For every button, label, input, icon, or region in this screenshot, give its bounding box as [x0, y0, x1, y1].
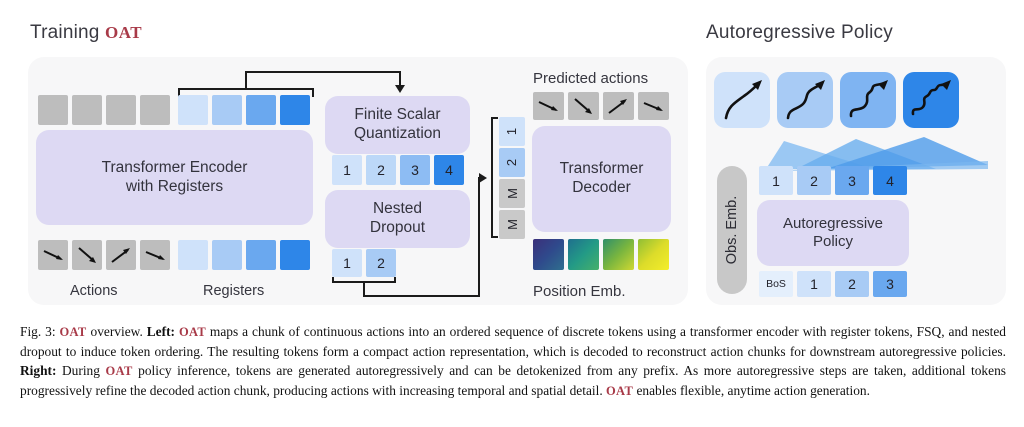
caption-brand-1: OAT [60, 325, 87, 339]
caption-seg-4: During [56, 363, 105, 378]
register-tile-top [280, 95, 310, 125]
nested-dropout-block: Nested Dropout [325, 190, 470, 248]
dropout-token: 1 [332, 249, 362, 277]
register-tile-bottom [212, 240, 242, 270]
caption-prefix: Fig. 3: [20, 324, 60, 339]
trajectory-curve-2-icon [777, 72, 833, 128]
policy-input-token: 3 [873, 271, 907, 297]
predicted-action-tile [603, 92, 634, 120]
decoder-input-token-label: 1 [504, 128, 519, 135]
fsq-token: 4 [434, 155, 464, 185]
action-arrow-right-down-icon [38, 240, 68, 270]
policy-label-line2: Policy [813, 233, 853, 251]
register-bracket-right [312, 88, 314, 97]
register-tile-bottom [280, 240, 310, 270]
transformer-encoder-block: Transformer Encoder with Registers [36, 130, 313, 225]
registers-label: Registers [203, 283, 264, 299]
caption-bold-right: Right: [20, 363, 56, 378]
fsq-label-line2: Quantization [354, 125, 441, 144]
fsq-token: 3 [400, 155, 430, 185]
encoder-label-line2: with Registers [126, 178, 223, 197]
predicted-arrow-down-right-icon [568, 92, 599, 120]
action-arrow-up-right-icon [106, 240, 136, 270]
policy-output-token: 4 [873, 166, 907, 195]
position-emb-tile [533, 239, 564, 270]
action-arrow-right-icon [140, 240, 170, 270]
decoder-input-token-label: 2 [504, 159, 519, 166]
policy-input-token: 1 [797, 271, 831, 297]
action-tile [72, 240, 102, 270]
predicted-arrow-right-down-icon [533, 92, 564, 120]
figure-area: Training OAT Transformer Encoder with Re… [0, 0, 1024, 315]
obs-emb-block: Obs. Emb. [717, 166, 747, 294]
fsq-feed-line [245, 71, 400, 73]
policy-input-token: 2 [835, 271, 869, 297]
caption-bold-left: Left: [147, 324, 175, 339]
dropout-route-across [363, 295, 480, 297]
register-tile-top [178, 95, 208, 125]
decoder-input-token-label: M [505, 219, 520, 230]
dropout-route-up [478, 177, 480, 297]
position-emb-tile [638, 239, 669, 270]
figure-caption: Fig. 3: OAT overview. Left: OAT maps a c… [20, 322, 1006, 400]
predicted-actions-label: Predicted actions [533, 70, 648, 87]
policy-input-token: BoS [759, 271, 793, 297]
dropout-label-line2: Dropout [370, 219, 425, 238]
predicted-arrow-right-icon [638, 92, 669, 120]
position-emb-tile [603, 239, 634, 270]
decoder-input-bracket-cap-bottom [491, 236, 498, 238]
encoder-input-tile [106, 95, 136, 125]
trajectory-tile [840, 72, 896, 128]
register-tile-top [246, 95, 276, 125]
register-tile-bottom [246, 240, 276, 270]
encoder-input-tile [72, 95, 102, 125]
trajectory-tile [777, 72, 833, 128]
policy-output-token: 1 [759, 166, 793, 195]
trajectory-curve-3-icon [840, 72, 896, 128]
encoder-input-tile [38, 95, 68, 125]
fsq-label-line1: Finite Scalar [354, 106, 440, 125]
policy-label-line1: Autoregressive [783, 215, 883, 233]
policy-output-token: 3 [835, 166, 869, 195]
position-emb-tile [568, 239, 599, 270]
caption-seg-1: overview. [87, 324, 147, 339]
predicted-action-tile [533, 92, 564, 120]
left-title-text: Training [30, 22, 105, 43]
decoder-input-arrow-icon [479, 173, 487, 183]
encoder-label-line1: Transformer Encoder [102, 159, 248, 178]
decoder-input-bracket [491, 117, 493, 237]
decoder-input-token: M [499, 210, 525, 239]
position-emb-label: Position Emb. [533, 283, 626, 300]
obs-emb-label: Obs. Emb. [724, 196, 740, 265]
trajectory-curve-1-icon [714, 72, 770, 128]
transformer-decoder-block: Transformer Decoder [532, 126, 671, 232]
caption-brand-3: OAT [106, 364, 133, 378]
action-tile [140, 240, 170, 270]
left-panel-title: Training OAT [30, 22, 142, 44]
register-tile-top [212, 95, 242, 125]
register-bracket-stem [245, 71, 247, 90]
action-arrow-down-right-icon [72, 240, 102, 270]
trajectory-tile [714, 72, 770, 128]
fsq-token: 1 [332, 155, 362, 185]
decoder-input-token: 2 [499, 148, 525, 177]
predicted-arrow-up-right-icon [603, 92, 634, 120]
predicted-action-tile [568, 92, 599, 120]
decoder-input-token: M [499, 179, 525, 208]
actions-label: Actions [70, 283, 118, 299]
autoregressive-policy-block: Autoregressive Policy [757, 200, 909, 266]
predicted-action-tile [638, 92, 669, 120]
trajectory-curve-4-icon [903, 72, 959, 128]
decoder-input-token-label: M [505, 188, 520, 199]
left-title-brand: OAT [105, 23, 142, 42]
decoder-label-line1: Transformer [560, 160, 644, 179]
fsq-block: Finite Scalar Quantization [325, 96, 470, 154]
decoder-input-token: 1 [499, 117, 525, 146]
policy-output-token: 2 [797, 166, 831, 195]
action-tile [106, 240, 136, 270]
decoder-input-bracket-cap-top [491, 117, 498, 119]
dropout-bracket-left [332, 277, 334, 283]
right-panel-title: Autoregressive Policy [706, 22, 893, 44]
dropout-token: 2 [366, 249, 396, 277]
trajectory-tile [903, 72, 959, 128]
caption-brand-4: OAT [606, 384, 633, 398]
decoder-label-line2: Decoder [572, 179, 631, 198]
dropout-bracket-right [394, 277, 396, 283]
caption-brand-2: OAT [179, 325, 206, 339]
register-tile-bottom [178, 240, 208, 270]
encoder-input-tile [140, 95, 170, 125]
fsq-arrow-icon [395, 85, 405, 93]
action-tile [38, 240, 68, 270]
caption-seg-6: enables flexible, anytime action generat… [633, 383, 870, 398]
dropout-label-line1: Nested [373, 200, 422, 219]
fsq-token: 2 [366, 155, 396, 185]
